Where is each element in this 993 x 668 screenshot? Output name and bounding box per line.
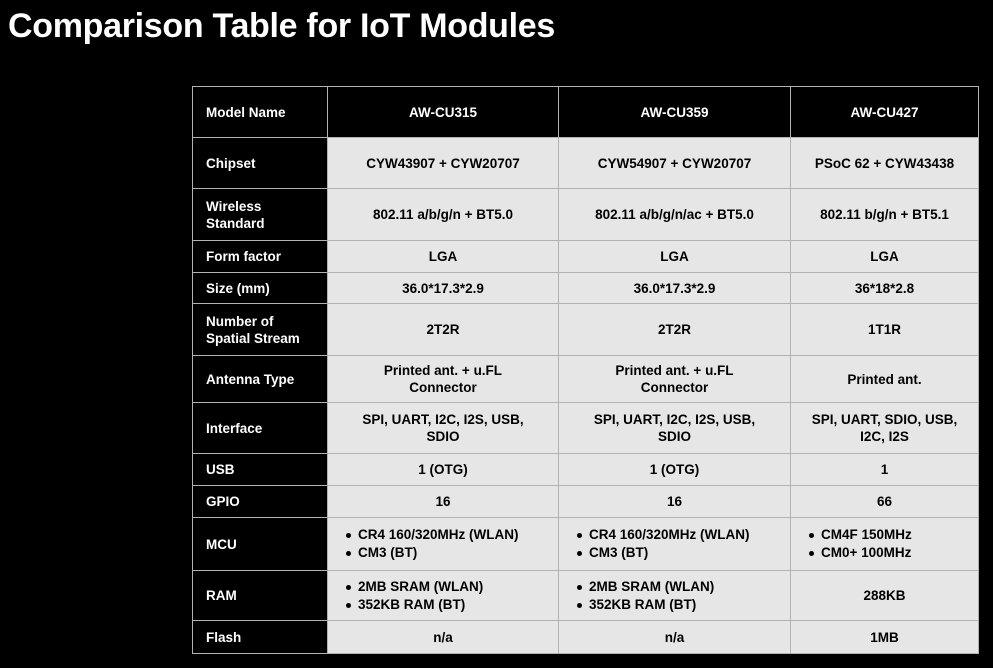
value-cell: 36.0*17.3*2.9 (559, 273, 791, 304)
value-cell: 2T2R (328, 304, 559, 356)
value-cell: 1MB (791, 621, 979, 654)
cell-content: 66 (791, 493, 978, 510)
table-row: Size (mm)36.0*17.3*2.936.0*17.3*2.936*18… (193, 273, 979, 304)
cell-content: AW-CU315 (328, 105, 558, 120)
cell-text-line: 1 (OTG) (650, 462, 700, 477)
bullet-item: CM3 (BT) (589, 544, 784, 562)
value-cell: 2MB SRAM (WLAN)352KB RAM (BT) (559, 571, 791, 621)
cell-content: Size (mm) (193, 280, 327, 297)
value-cell: Printed ant. (791, 356, 979, 403)
cell-content: n/a (559, 629, 790, 646)
cell-content: n/a (328, 629, 558, 646)
table-body: Model NameAW-CU315AW-CU359AW-CU427Chipse… (193, 87, 979, 654)
value-cell: CYW43907 + CYW20707 (328, 138, 559, 189)
value-cell: Printed ant. + u.FLConnector (328, 356, 559, 403)
row-label-cell: Interface (193, 403, 328, 454)
cell-text-line: CYW54907 + CYW20707 (598, 156, 751, 171)
cell-content: RAM (193, 587, 327, 604)
cell-text-line: SPI, UART, SDIO, USB, (812, 412, 958, 427)
bullet-item: 352KB RAM (BT) (589, 596, 784, 614)
cell-content: 36.0*17.3*2.9 (559, 280, 790, 297)
page-title: Comparison Table for IoT Modules (8, 2, 968, 50)
cell-text-line: Number of (206, 314, 274, 329)
cell-content: CYW43907 + CYW20707 (328, 155, 558, 172)
cell-content: LGA (559, 248, 790, 265)
cell-content: 802.11 a/b/g/n + BT5.0 (328, 206, 558, 223)
table-row: InterfaceSPI, UART, I2C, I2S, USB,SDIOSP… (193, 403, 979, 454)
cell-content: 36*18*2.8 (791, 280, 978, 297)
row-label-cell: Form factor (193, 241, 328, 273)
bullet-item: CM3 (BT) (358, 544, 552, 562)
cell-content: Antenna Type (193, 371, 327, 388)
cell-content: PSoC 62 + CYW43438 (791, 155, 978, 172)
cell-content: CR4 160/320MHz (WLAN)CM3 (BT) (559, 526, 790, 562)
cell-content: Interface (193, 420, 327, 437)
cell-text-line: PSoC 62 + CYW43438 (815, 156, 954, 171)
cell-content: Chipset (193, 155, 327, 172)
value-cell: PSoC 62 + CYW43438 (791, 138, 979, 189)
value-cell: 802.11 b/g/n + BT5.1 (791, 189, 979, 241)
cell-text-line: SDIO (658, 429, 691, 444)
cell-content: 36.0*17.3*2.9 (328, 280, 558, 297)
bullet-item: CM4F 150MHz (821, 526, 972, 544)
table-row: Form factorLGALGALGA (193, 241, 979, 273)
cell-text-line: 36.0*17.3*2.9 (402, 281, 484, 296)
bullet-item: 2MB SRAM (WLAN) (358, 578, 552, 596)
table-row: WirelessStandard802.11 a/b/g/n + BT5.080… (193, 189, 979, 241)
cell-content: AW-CU427 (791, 105, 978, 120)
row-label-cell: Chipset (193, 138, 328, 189)
table-row: Antenna TypePrinted ant. + u.FLConnector… (193, 356, 979, 403)
cell-content: 1 (OTG) (328, 461, 558, 478)
cell-text-line: n/a (433, 630, 453, 645)
cell-text-line: 66 (877, 494, 892, 509)
bullet-item: 2MB SRAM (WLAN) (589, 578, 784, 596)
cell-content: 802.11 a/b/g/n/ac + BT5.0 (559, 206, 790, 223)
header-cell-model-2: AW-CU359 (559, 87, 791, 138)
cell-text-line: Connector (641, 380, 709, 395)
cell-content: USB (193, 461, 327, 478)
row-label-cell: RAM (193, 571, 328, 621)
comparison-table: Model NameAW-CU315AW-CU359AW-CU427Chipse… (192, 86, 979, 654)
value-cell: LGA (791, 241, 979, 273)
slide-canvas: Comparison Table for IoT Modules Model N… (0, 0, 993, 668)
row-label-cell: MCU (193, 518, 328, 571)
row-label-cell: Flash (193, 621, 328, 654)
cell-text-line: SPI, UART, I2C, I2S, USB, (362, 412, 523, 427)
value-cell: CR4 160/320MHz (WLAN)CM3 (BT) (559, 518, 791, 571)
cell-text-line: 1MB (870, 630, 899, 645)
cell-content: AW-CU359 (559, 105, 790, 120)
bullet-list: 2MB SRAM (WLAN)352KB RAM (BT) (573, 578, 784, 614)
value-cell: 36.0*17.3*2.9 (328, 273, 559, 304)
table-row: Number ofSpatial Stream2T2R2T2R1T1R (193, 304, 979, 356)
cell-content: 1 (791, 461, 978, 478)
bullet-list: CR4 160/320MHz (WLAN)CM3 (BT) (573, 526, 784, 562)
cell-content: 2T2R (328, 321, 558, 338)
cell-text-line: 16 (667, 494, 682, 509)
value-cell: 1T1R (791, 304, 979, 356)
value-cell: CYW54907 + CYW20707 (559, 138, 791, 189)
cell-content: Printed ant. + u.FLConnector (328, 362, 558, 396)
cell-content: CR4 160/320MHz (WLAN)CM3 (BT) (328, 526, 558, 562)
cell-text-line: 2T2R (426, 322, 459, 337)
value-cell: 1 (791, 454, 979, 486)
value-cell: Printed ant. + u.FLConnector (559, 356, 791, 403)
cell-content: 1MB (791, 629, 978, 646)
cell-text-line: 802.11 b/g/n + BT5.1 (820, 207, 949, 222)
value-cell: LGA (328, 241, 559, 273)
cell-content: 1T1R (791, 321, 978, 338)
cell-text-line: Spatial Stream (206, 331, 300, 346)
cell-text-line: Standard (206, 216, 265, 231)
cell-content: SPI, UART, SDIO, USB,I2C, I2S (791, 411, 978, 445)
cell-text-line: CYW43907 + CYW20707 (366, 156, 519, 171)
cell-content: GPIO (193, 493, 327, 510)
cell-text-line: Printed ant. + u.FL (384, 363, 502, 378)
value-cell: SPI, UART, I2C, I2S, USB,SDIO (559, 403, 791, 454)
cell-content: Number ofSpatial Stream (193, 313, 327, 347)
cell-content: SPI, UART, I2C, I2S, USB,SDIO (559, 411, 790, 445)
value-cell: 1 (OTG) (559, 454, 791, 486)
cell-content: Flash (193, 629, 327, 646)
cell-content: 1 (OTG) (559, 461, 790, 478)
value-cell: 2T2R (559, 304, 791, 356)
value-cell: n/a (559, 621, 791, 654)
value-cell: 802.11 a/b/g/n/ac + BT5.0 (559, 189, 791, 241)
cell-text-line: LGA (429, 249, 458, 264)
bullet-item: CM0+ 100MHz (821, 544, 972, 562)
row-label-cell: GPIO (193, 486, 328, 518)
value-cell: LGA (559, 241, 791, 273)
cell-content: LGA (328, 248, 558, 265)
bullet-item: CR4 160/320MHz (WLAN) (358, 526, 552, 544)
cell-content: 802.11 b/g/n + BT5.1 (791, 206, 978, 223)
value-cell: 1 (OTG) (328, 454, 559, 486)
row-label-cell: WirelessStandard (193, 189, 328, 241)
cell-text-line: LGA (870, 249, 899, 264)
value-cell: CR4 160/320MHz (WLAN)CM3 (BT) (328, 518, 559, 571)
bullet-list: 2MB SRAM (WLAN)352KB RAM (BT) (342, 578, 552, 614)
cell-content: WirelessStandard (193, 198, 327, 232)
cell-text-line: I2C, I2S (860, 429, 909, 444)
cell-text-line: 36.0*17.3*2.9 (634, 281, 716, 296)
table-row: MCUCR4 160/320MHz (WLAN)CM3 (BT)CR4 160/… (193, 518, 979, 571)
cell-content: Form factor (193, 248, 327, 265)
value-cell: 288KB (791, 571, 979, 621)
row-label-cell: USB (193, 454, 328, 486)
cell-content: Printed ant. + u.FLConnector (559, 362, 790, 396)
cell-text-line: Printed ant. + u.FL (615, 363, 733, 378)
cell-text-line: 1 (881, 462, 889, 477)
cell-content: 2MB SRAM (WLAN)352KB RAM (BT) (559, 578, 790, 614)
cell-text-line: SDIO (426, 429, 459, 444)
value-cell: 16 (559, 486, 791, 518)
header-cell-model-1: AW-CU315 (328, 87, 559, 138)
cell-content: 2T2R (559, 321, 790, 338)
cell-text-line: Printed ant. (847, 372, 921, 387)
cell-content: Printed ant. (791, 371, 978, 388)
value-cell: SPI, UART, SDIO, USB,I2C, I2S (791, 403, 979, 454)
bullet-list: CM4F 150MHzCM0+ 100MHz (805, 526, 972, 562)
cell-text-line: n/a (665, 630, 685, 645)
value-cell: 16 (328, 486, 559, 518)
cell-content: SPI, UART, I2C, I2S, USB,SDIO (328, 411, 558, 445)
cell-text-line: Wireless (206, 199, 261, 214)
table-row: Flashn/an/a1MB (193, 621, 979, 654)
cell-text-line: 36*18*2.8 (855, 281, 914, 296)
cell-text-line: 1T1R (868, 322, 901, 337)
row-label-cell: Size (mm) (193, 273, 328, 304)
value-cell: n/a (328, 621, 559, 654)
cell-content: 16 (559, 493, 790, 510)
cell-content: CYW54907 + CYW20707 (559, 155, 790, 172)
cell-content: 2MB SRAM (WLAN)352KB RAM (BT) (328, 578, 558, 614)
cell-content: LGA (791, 248, 978, 265)
value-cell: 36*18*2.8 (791, 273, 979, 304)
table-row: GPIO161666 (193, 486, 979, 518)
cell-content: 16 (328, 493, 558, 510)
bullet-item: CR4 160/320MHz (WLAN) (589, 526, 784, 544)
cell-text-line: LGA (660, 249, 689, 264)
bullet-item: 352KB RAM (BT) (358, 596, 552, 614)
header-cell-model-3: AW-CU427 (791, 87, 979, 138)
table-row: ChipsetCYW43907 + CYW20707CYW54907 + CYW… (193, 138, 979, 189)
cell-content: MCU (193, 536, 327, 553)
row-label-cell: Antenna Type (193, 356, 328, 403)
row-label-cell: Number ofSpatial Stream (193, 304, 328, 356)
cell-text-line: 802.11 a/b/g/n/ac + BT5.0 (595, 207, 754, 222)
table-header-row: Model NameAW-CU315AW-CU359AW-CU427 (193, 87, 979, 138)
table-row: RAM2MB SRAM (WLAN)352KB RAM (BT)2MB SRAM… (193, 571, 979, 621)
header-cell-attribute: Model Name (193, 87, 328, 138)
cell-text-line: SPI, UART, I2C, I2S, USB, (594, 412, 755, 427)
cell-content: CM4F 150MHzCM0+ 100MHz (791, 526, 978, 562)
table-row: USB1 (OTG)1 (OTG)1 (193, 454, 979, 486)
cell-text-line: 802.11 a/b/g/n + BT5.0 (373, 207, 513, 222)
cell-text-line: 1 (OTG) (418, 462, 468, 477)
value-cell: 802.11 a/b/g/n + BT5.0 (328, 189, 559, 241)
bullet-list: CR4 160/320MHz (WLAN)CM3 (BT) (342, 526, 552, 562)
value-cell: SPI, UART, I2C, I2S, USB,SDIO (328, 403, 559, 454)
value-cell: 2MB SRAM (WLAN)352KB RAM (BT) (328, 571, 559, 621)
cell-text-line: 288KB (863, 588, 905, 603)
cell-text-line: 16 (435, 494, 450, 509)
cell-text-line: 2T2R (658, 322, 691, 337)
value-cell: 66 (791, 486, 979, 518)
cell-content: 288KB (791, 587, 978, 604)
value-cell: CM4F 150MHzCM0+ 100MHz (791, 518, 979, 571)
cell-text-line: Connector (409, 380, 477, 395)
cell-content: Model Name (193, 105, 327, 120)
